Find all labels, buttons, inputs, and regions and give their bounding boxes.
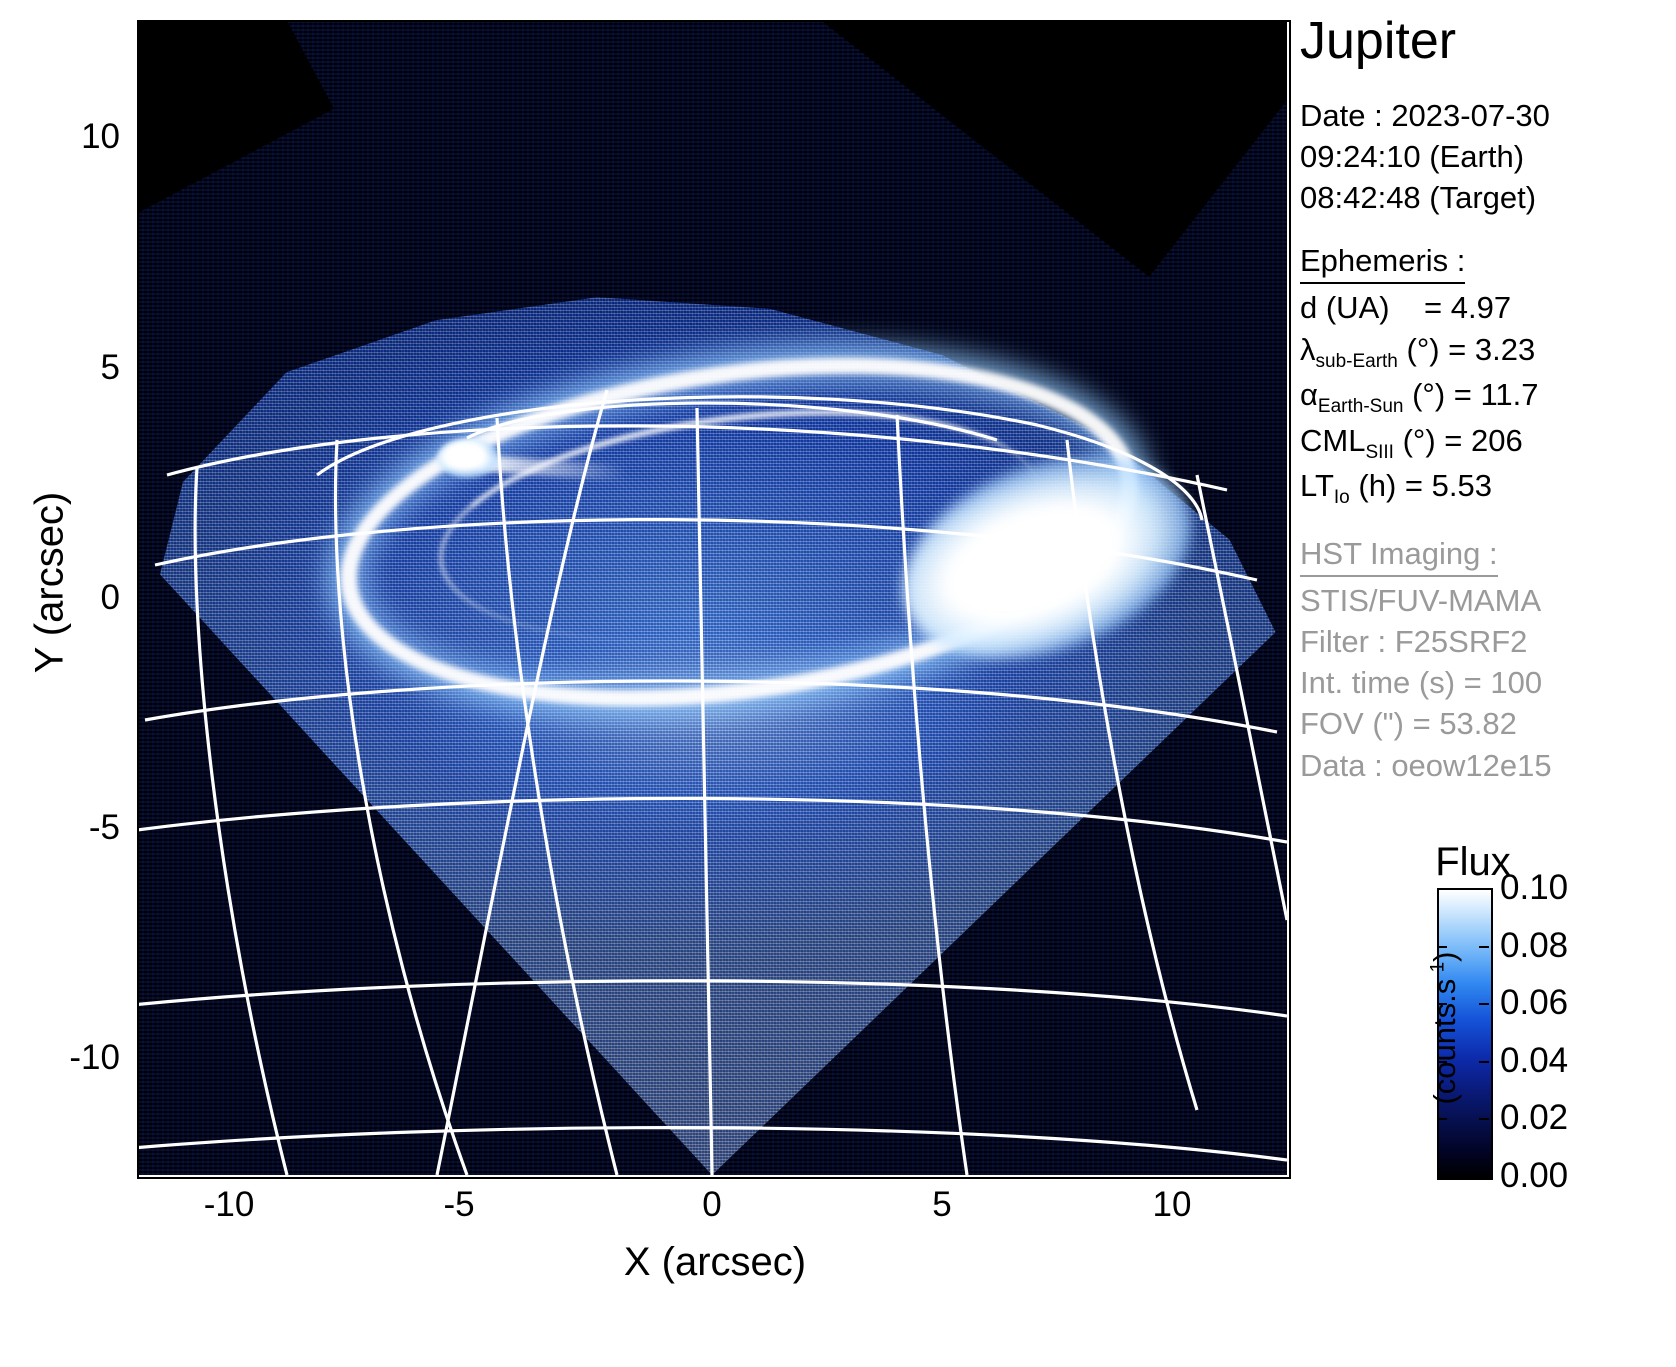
colorbar-tick-2: 0.06 — [1500, 983, 1568, 1023]
cml-subscript: SIII — [1365, 442, 1394, 463]
y-axis-label: Y (arcsec) — [28, 433, 73, 733]
xtick-0: -10 — [169, 1185, 289, 1225]
instrument-header: HST Imaging : — [1300, 533, 1498, 577]
colorbar-mark-1r — [1479, 946, 1489, 948]
ephemeris-header: Ephemeris : — [1300, 240, 1465, 284]
colorbar-mark-3 — [1437, 1061, 1447, 1063]
alpha-unit: (°) — [1412, 377, 1445, 412]
lambda-subscript: sub-Earth — [1316, 351, 1398, 372]
colorbar-unit-exponent: -1 — [1428, 962, 1449, 979]
ephemeris-sub-earth-lat: λsub-Earth (°) = 3.23 — [1300, 329, 1670, 374]
colorbar-unit-paren: ) — [1427, 952, 1462, 962]
x-axis-label: X (arcsec) — [500, 1240, 930, 1285]
ephemeris-distance: d (UA) = 4.97 — [1300, 287, 1670, 328]
obs-time-earth: 09:24:10 (Earth) — [1300, 136, 1670, 177]
alpha-value: = 11.7 — [1454, 377, 1539, 412]
distance-value: = 4.97 — [1424, 290, 1511, 325]
colorbar-mark-1 — [1437, 946, 1447, 948]
colorbar-mark-2r — [1479, 1003, 1489, 1005]
coordinate-graticule — [137, 20, 1287, 1175]
ytick-4: -10 — [10, 1038, 120, 1078]
colorbar-mark-2 — [1437, 1003, 1447, 1005]
ephemeris-io-local-time: LTIo (h) = 5.53 — [1300, 465, 1670, 510]
lambda-unit: (°) — [1407, 332, 1440, 367]
colorbar-tick-4: 0.02 — [1500, 1098, 1568, 1138]
cml-label: CML — [1300, 423, 1365, 458]
ephemeris-cml: CMLSIII (°) = 206 — [1300, 420, 1670, 465]
page-title: Jupiter — [1300, 14, 1670, 69]
ytick-3: -5 — [10, 808, 120, 848]
distance-label: d (UA) — [1300, 290, 1390, 325]
colorbar-unit-text: (counts.s — [1427, 979, 1462, 1105]
figure-root: -10 -5 0 5 10 10 5 0 -5 -10 X (arcsec) Y… — [0, 0, 1676, 1367]
lambda-symbol: λ — [1300, 332, 1316, 367]
lt-unit: (h) — [1358, 468, 1396, 503]
lt-value: = 5.53 — [1405, 468, 1492, 503]
ytick-1: 5 — [10, 348, 120, 388]
colorbar-mark-3r — [1479, 1061, 1489, 1063]
info-panel: Jupiter Date : 2023-07-30 09:24:10 (Eart… — [1300, 14, 1670, 786]
xtick-4: 10 — [1112, 1185, 1232, 1225]
ephemeris-phase-angle: αEarth-Sun (°) = 11.7 — [1300, 374, 1670, 419]
aurora-image-panel — [137, 20, 1287, 1175]
lambda-value: = 3.23 — [1448, 332, 1535, 367]
io-footprint-trace — [437, 390, 607, 1175]
xtick-1: -5 — [399, 1185, 519, 1225]
cml-value: = 206 — [1444, 423, 1522, 458]
colorbar-mark-4r — [1479, 1118, 1489, 1120]
colorbar-tick-1: 0.08 — [1500, 926, 1568, 966]
xtick-3: 5 — [882, 1185, 1002, 1225]
alpha-subscript: Earth-Sun — [1318, 396, 1404, 417]
colorbar-mark-4 — [1437, 1118, 1447, 1120]
colorbar-mark-0 — [1437, 888, 1447, 890]
xtick-2: 0 — [652, 1185, 772, 1225]
lt-label: LT — [1300, 468, 1334, 503]
obs-date: Date : 2023-07-30 — [1300, 95, 1670, 136]
alpha-symbol: α — [1300, 377, 1318, 412]
instrument-fov: FOV (") = 53.82 — [1300, 703, 1670, 744]
ytick-0: 10 — [10, 117, 120, 157]
instrument-int-time: Int. time (s) = 100 — [1300, 662, 1670, 703]
cml-unit: (°) — [1403, 423, 1436, 458]
instrument-dataset: Data : oeow12e15 — [1300, 745, 1670, 786]
instrument-detector: STIS/FUV-MAMA — [1300, 580, 1670, 621]
instrument-filter: Filter : F25SRF2 — [1300, 621, 1670, 662]
colorbar-tick-5: 0.00 — [1500, 1156, 1568, 1196]
colorbar-tick-3: 0.04 — [1500, 1041, 1568, 1081]
colorbar-tick-0: 0.10 — [1500, 868, 1568, 908]
colorbar-mark-0r — [1479, 888, 1489, 890]
obs-time-target: 08:42:48 (Target) — [1300, 177, 1670, 218]
lt-subscript: Io — [1334, 487, 1350, 508]
